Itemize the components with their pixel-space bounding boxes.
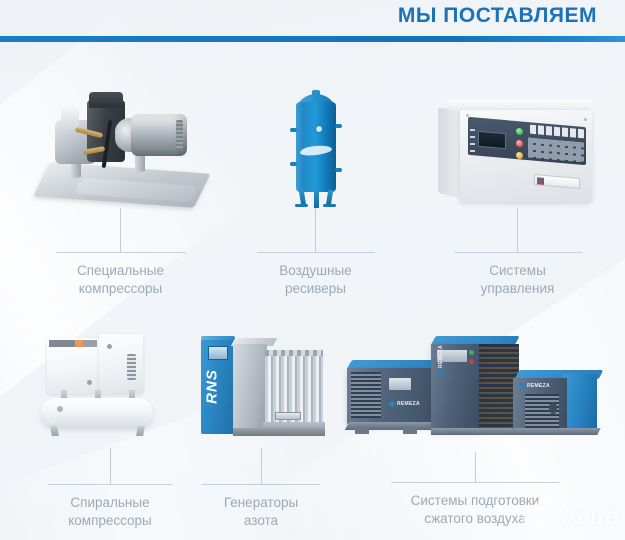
- caption: Системы подготовки сжатого воздуха: [335, 492, 615, 528]
- caption-rule: [48, 484, 172, 485]
- status-led-green: [516, 128, 523, 136]
- caption-line-1: Воздушные: [243, 262, 388, 280]
- cabinet-screw: [466, 114, 469, 117]
- caption-rule: [391, 482, 559, 483]
- caption-line-1: Генераторы: [186, 494, 336, 512]
- dryer-right-brand: REMEZA: [519, 382, 559, 390]
- air-receiver-photo: [243, 88, 388, 208]
- dryer-right-base: [511, 428, 600, 435]
- caption-line-1: Системы: [420, 262, 615, 280]
- caption-rule: [257, 252, 375, 253]
- header: МЫ ПОСТАВЛЯЕМ: [0, 0, 625, 46]
- caption: Генераторы азота: [186, 494, 336, 530]
- generator-display: [208, 346, 228, 360]
- connector-line: [315, 208, 316, 252]
- receiver-port: [335, 168, 342, 172]
- caption: Спиральные компрессоры: [20, 494, 200, 530]
- product-item-special-compressors[interactable]: Специальные компрессоры: [18, 88, 223, 298]
- air-treatment-photo: REMEZA REMEZA REMEZA: [335, 326, 615, 452]
- dryer-left-foot: [355, 428, 369, 434]
- page-title: МЫ ПОСТАВЛЯЕМ: [398, 4, 597, 28]
- dryer-center-button-green: [469, 350, 474, 355]
- connector-line: [475, 452, 476, 482]
- caption-line-1: Системы подготовки: [335, 492, 615, 510]
- product-item-air-receivers[interactable]: Воздушные ресиверы: [243, 88, 388, 298]
- scroll-brand-strip: [49, 340, 97, 347]
- product-item-control-systems[interactable]: Системы управления: [420, 88, 615, 298]
- product-item-scroll-compressors[interactable]: Спиральные компрессоры: [20, 330, 200, 530]
- scroll-tank-valve: [57, 406, 63, 412]
- caption-line-2: ресиверы: [243, 280, 388, 298]
- receiver-port: [290, 128, 297, 132]
- scroll-air-tank: [41, 398, 153, 428]
- caption-line-2: компрессоры: [18, 280, 223, 298]
- compressor-motor: [131, 114, 187, 156]
- cabinet-screw: [584, 118, 587, 121]
- generator-service-panel: [275, 412, 301, 420]
- status-led-amber: [516, 152, 523, 160]
- dryer-left-grille: [351, 372, 381, 418]
- receiver-foot: [323, 204, 336, 207]
- remeza-logo-icon: [438, 370, 444, 376]
- dryer-brand-text: REMEZA: [397, 401, 420, 407]
- generator-brand-label: RNS: [204, 364, 221, 410]
- indicator-leds: [470, 129, 475, 155]
- receiver-gauge: [316, 126, 322, 132]
- caption-line-2: компрессоры: [20, 512, 200, 530]
- dryer-center-base: [431, 428, 519, 435]
- caption: Системы управления: [420, 262, 615, 298]
- scroll-cabinet-right: [99, 334, 143, 394]
- dryer-brand-text: REMEZA: [438, 345, 444, 368]
- caption: Воздушные ресиверы: [243, 262, 388, 298]
- caption-rule: [56, 252, 186, 253]
- caption-rule: [202, 484, 320, 485]
- dryer-right-blue-panel: [563, 374, 597, 432]
- scroll-knob: [107, 344, 112, 349]
- dryer-right-knob: [549, 402, 557, 414]
- caption-line-2: управления: [420, 280, 615, 298]
- compressor-head: [89, 92, 123, 108]
- generator-frame: [233, 428, 325, 436]
- product-item-nitrogen-generators[interactable]: RNS Генераторы азота: [186, 330, 336, 530]
- receiver-port: [290, 162, 297, 166]
- remeza-logo-icon: [389, 401, 395, 407]
- product-item-compressed-air-treatment[interactable]: REMEZA REMEZA REMEZA: [335, 326, 615, 528]
- receiver-port: [335, 124, 342, 128]
- connector-line: [110, 448, 111, 484]
- dryer-left-foot: [403, 428, 417, 434]
- caption: Специальные компрессоры: [18, 262, 223, 298]
- caption-line-1: Специальные: [18, 262, 223, 280]
- dryer-brand-text: REMEZA: [527, 383, 550, 389]
- connector-line: [517, 208, 518, 252]
- generator-body: [233, 344, 267, 434]
- caption-line-1: Спиральные: [20, 494, 200, 512]
- scroll-compressor-photo: [20, 330, 200, 448]
- dryer-left-panel: [389, 378, 411, 390]
- status-led-red: [516, 140, 523, 148]
- dryer-center-button-red: [469, 359, 474, 364]
- control-system-photo: [420, 88, 615, 208]
- caption-rule: [454, 252, 582, 253]
- connector-line: [261, 448, 262, 484]
- dryer-center-brand: REMEZA: [437, 342, 445, 376]
- receiver-foot: [295, 204, 308, 207]
- receiver-leg: [314, 190, 319, 208]
- scroll-knob: [87, 380, 92, 385]
- special-compressor-photo: [18, 88, 223, 208]
- connector-line: [120, 208, 121, 252]
- header-accent-bar: [0, 36, 625, 42]
- remeza-logo-icon: [519, 383, 525, 389]
- caption-line-2: азота: [186, 512, 336, 530]
- caption-line-2: сжатого воздуха: [335, 510, 615, 528]
- dryer-left-brand: REMEZA: [389, 400, 423, 408]
- scroll-vent-grille: [127, 354, 136, 380]
- lcd-display: [478, 131, 506, 149]
- nitrogen-generator-photo: RNS: [186, 330, 336, 448]
- scroll-foot: [136, 426, 145, 436]
